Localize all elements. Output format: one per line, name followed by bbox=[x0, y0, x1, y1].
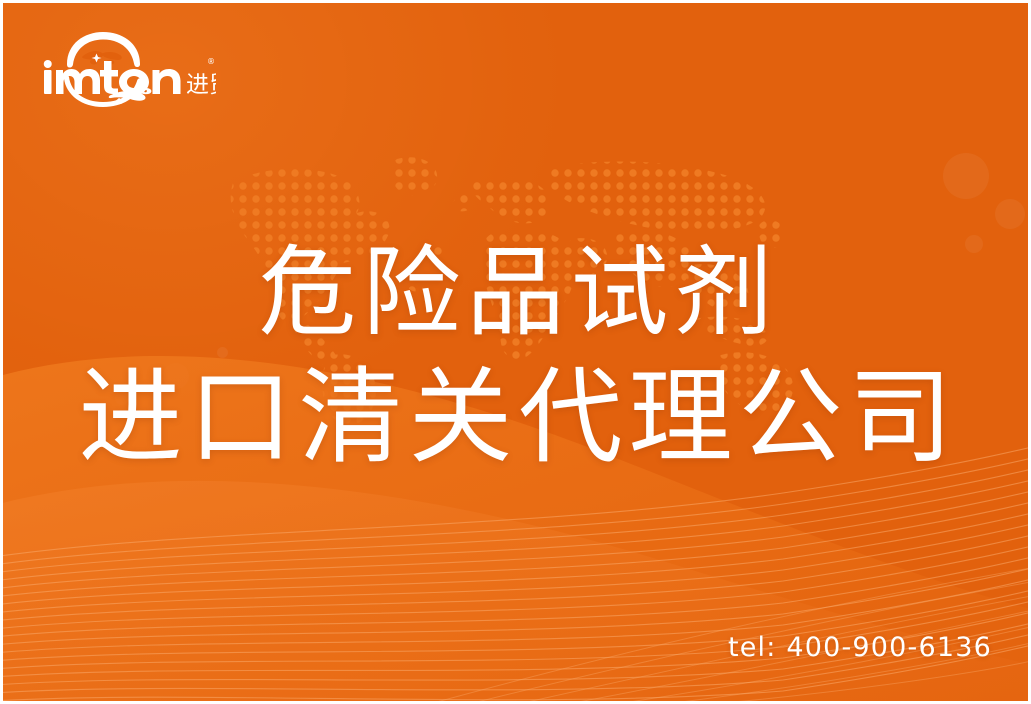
globe-swoosh-logo-icon: 进贸通 ® bbox=[36, 31, 216, 107]
bokeh-circle bbox=[995, 199, 1025, 229]
page-title: 危险品试剂 进口清关代理公司 bbox=[3, 235, 1031, 479]
bokeh-circle bbox=[943, 153, 989, 199]
registered-trademark-icon: ® bbox=[207, 57, 215, 66]
contact-telephone[interactable]: tel: 400-900-6136 bbox=[728, 632, 992, 663]
headline-line-1: 危险品试剂 bbox=[3, 235, 1031, 351]
headline-line-2: 进口清关代理公司 bbox=[3, 355, 1031, 479]
promotional-banner: 进贸通 ® 危险品试剂 进口清关代理公司 tel: 400-900-6136 bbox=[0, 0, 1031, 704]
imton-logo[interactable]: 进贸通 ® bbox=[36, 31, 216, 107]
logo-chinese-name: 进贸通 bbox=[186, 72, 216, 98]
